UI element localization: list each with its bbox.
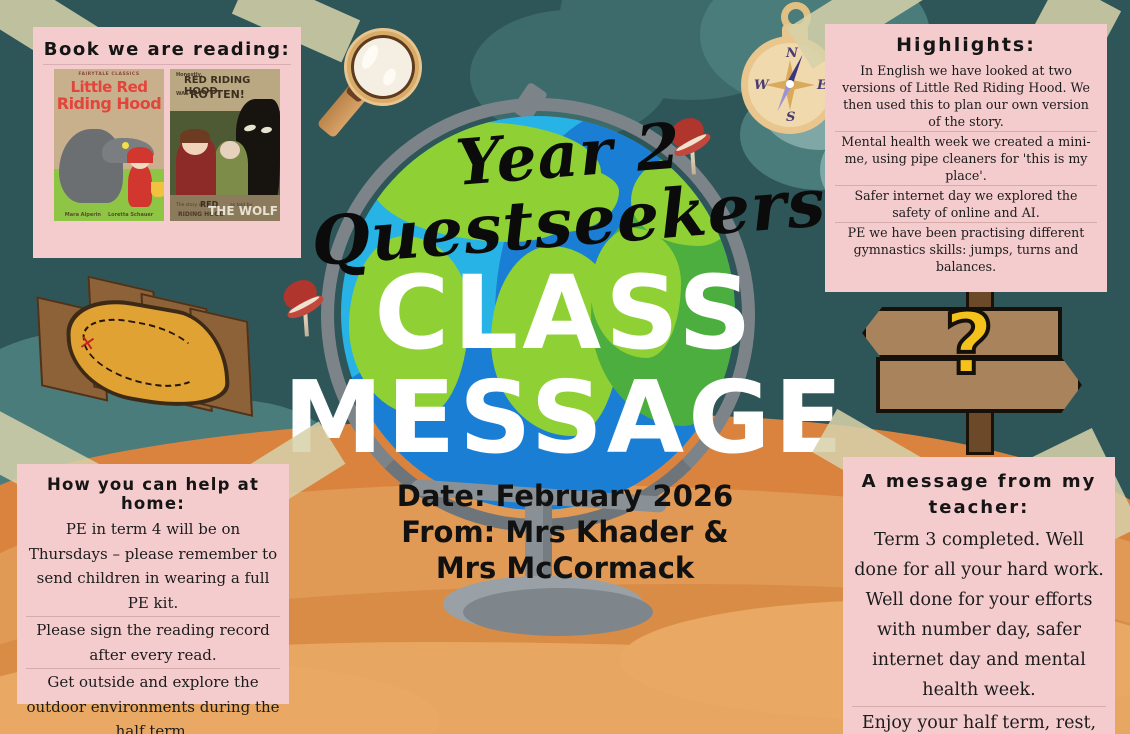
class-message-poster: N E S W ✕ ? Year 2 Que — [0, 0, 1130, 734]
help-panel-title: How you can help at home: — [26, 475, 280, 513]
book2-granny-face — [220, 141, 240, 159]
globe-base-shadow — [463, 588, 653, 636]
highlight-item: In English we have looked at two version… — [835, 61, 1097, 132]
book-cover-red-riding-hood-was-rotten: Honestly, RED RIDING HOOD WAS ROTTEN! Th… — [170, 69, 280, 221]
help-item: Get outside and explore the outdoor envi… — [26, 669, 280, 734]
book1-girl-hood — [127, 147, 153, 163]
help-item: PE in term 4 will be on Thursdays – plea… — [26, 516, 280, 617]
book2-title-line2: ROTTEN! — [190, 88, 245, 101]
how-you-can-help-at-home-panel: How you can help at home: PE in term 4 w… — [17, 464, 289, 704]
highlights-body: In English we have looked at two version… — [835, 61, 1097, 276]
book1-red-cloak — [128, 163, 152, 207]
book1-author2: Loretta Schauer — [108, 212, 153, 218]
book1-title-line2: Riding Hood — [54, 94, 164, 113]
highlights-panel: Highlights: In English we have looked at… — [825, 24, 1107, 292]
help-panel-body: PE in term 4 will be on Thursdays – plea… — [26, 516, 280, 734]
help-item: Please sign the reading record after eve… — [26, 617, 280, 669]
book-cover-little-red-riding-hood: FAIRYTALE CLASSICS Little Red Riding Hoo… — [54, 69, 164, 221]
compass-pivot — [786, 80, 794, 88]
teacher-item: Enjoy your half term, rest, play and sta… — [852, 707, 1106, 734]
book-panel-title: Book we are reading: — [43, 39, 291, 60]
book1-author1: Mara Alperin — [65, 212, 101, 218]
book2-girl-hair — [180, 129, 210, 143]
book-we-are-reading-panel: Book we are reading: FAIRYTALE CLASSICS … — [33, 27, 301, 258]
book1-basket — [151, 182, 164, 197]
highlights-title: Highlights: — [835, 34, 1097, 56]
message-from-my-teacher-panel: A message from my teacher: Term 3 comple… — [843, 457, 1115, 734]
treasure-map-icon: ✕ — [36, 272, 259, 448]
globe-illustration — [303, 88, 773, 648]
compass-label-west: W — [754, 78, 769, 93]
book1-wolf-eye — [122, 142, 129, 149]
teacher-panel-title: A message from my teacher: — [852, 469, 1106, 521]
book1-series-label: FAIRYTALE CLASSICS — [54, 72, 164, 77]
highlight-item: PE we have been practising different gym… — [835, 223, 1097, 276]
compass-label-south: S — [786, 110, 795, 125]
globe-sphere — [341, 116, 735, 510]
question-mark-icon: ? — [944, 301, 994, 387]
highlight-item: Safer internet day we explored the safet… — [835, 186, 1097, 223]
book-covers-row: FAIRYTALE CLASSICS Little Red Riding Hoo… — [43, 64, 291, 221]
compass-label-north: N — [786, 46, 798, 61]
signpost-icon: ? — [858, 283, 1108, 455]
book1-authors: Mara Alperin Loretta Schauer — [54, 212, 164, 218]
teacher-item: Term 3 completed. Well done for all your… — [852, 524, 1106, 707]
teacher-panel-body: Term 3 completed. Well done for all your… — [852, 524, 1106, 734]
highlight-item: Mental health week we created a mini-me,… — [835, 132, 1097, 186]
book2-sub-the-story-of: The story of — [176, 203, 203, 208]
book2-sub-the-wolf: THE WOLF — [208, 204, 278, 218]
book2-was-label: WAS — [176, 91, 189, 97]
